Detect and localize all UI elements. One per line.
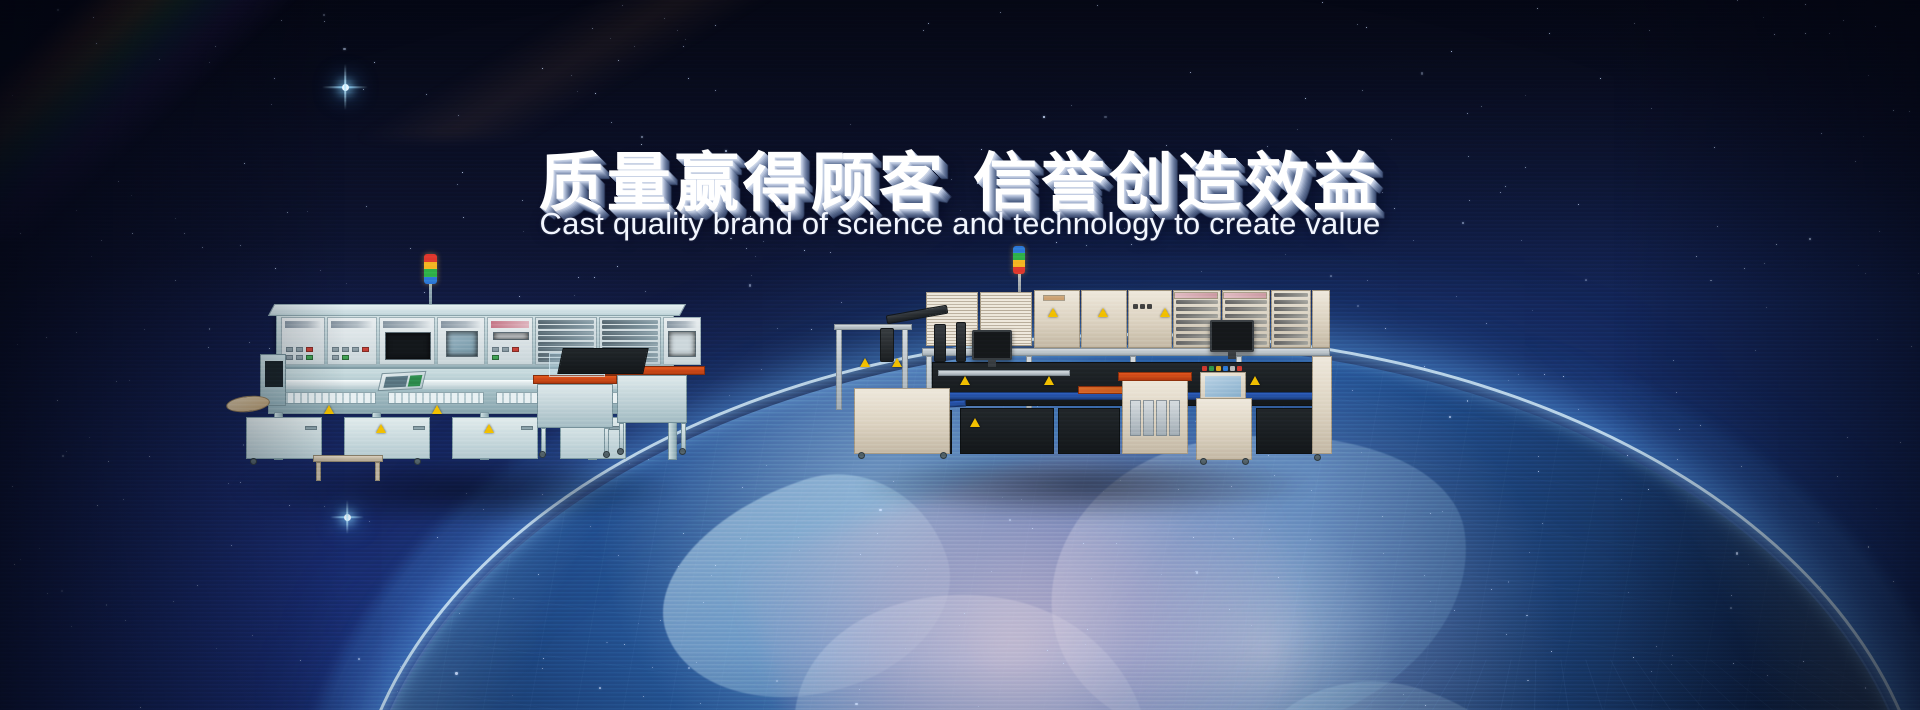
vignette-overlay	[0, 0, 1920, 710]
hero-banner: 质量赢得顾客 信誉创造效益 Cast quality brand of scie…	[0, 0, 1920, 710]
